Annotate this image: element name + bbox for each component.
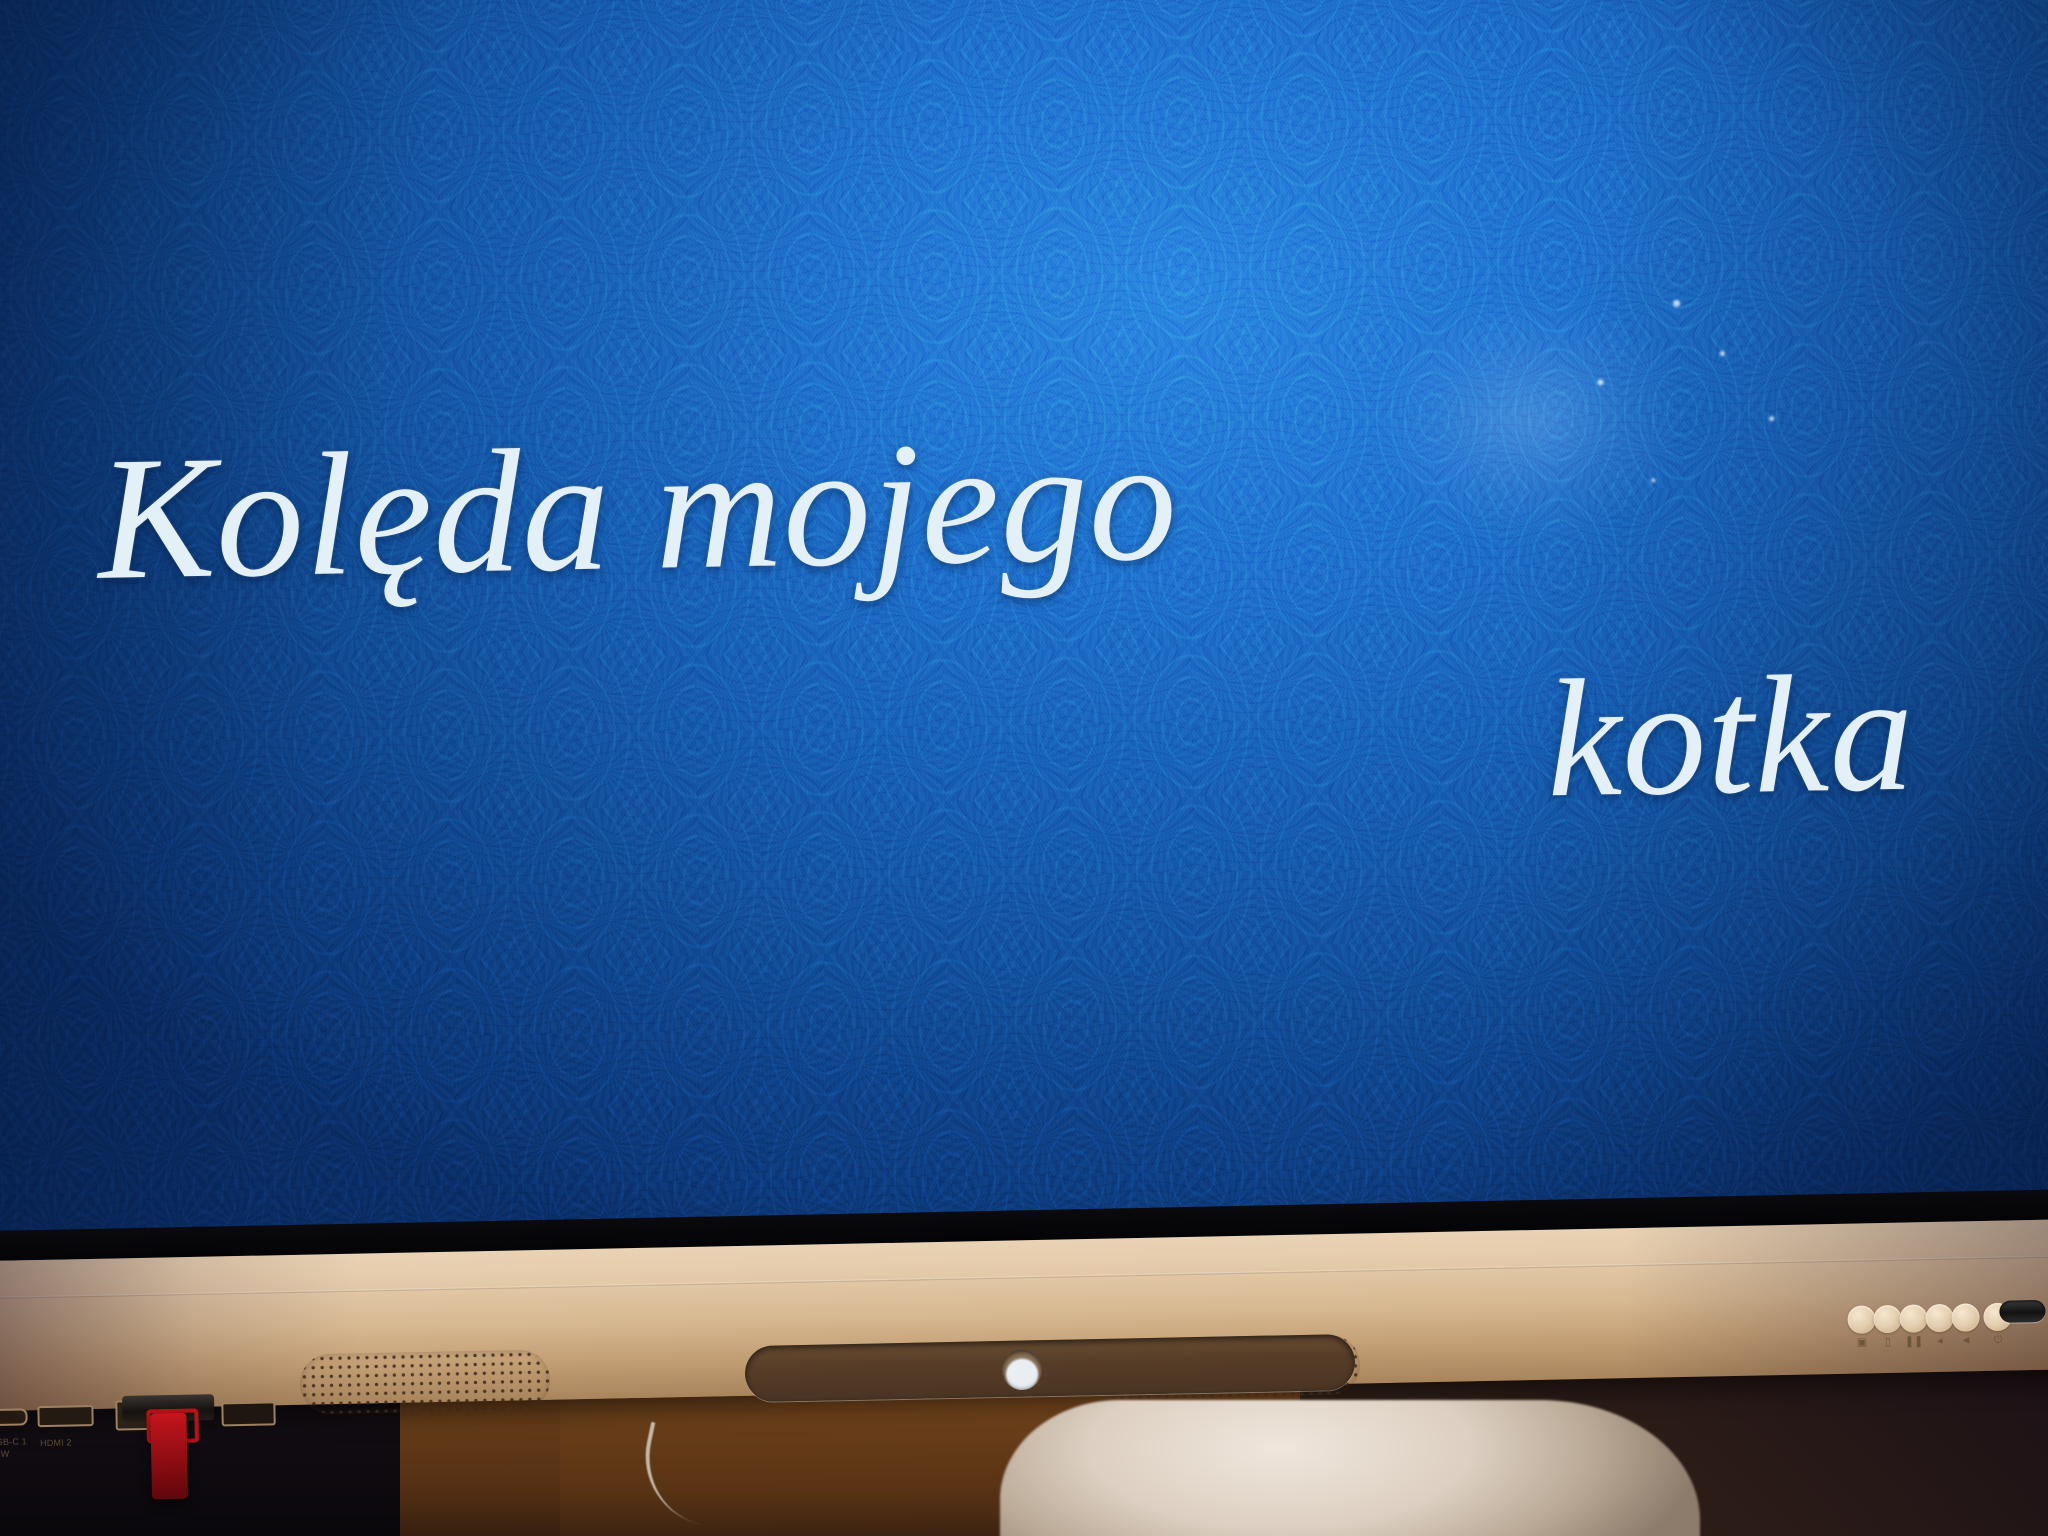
volume-up-icon: ◄ (1952, 1335, 1980, 1347)
screen-freeze-icon: ▯ (1874, 1337, 1902, 1349)
sparkle-dot (1673, 300, 1680, 307)
foreground-cloth (1000, 1400, 1700, 1536)
usb-c-power-label: 65W (0, 1449, 9, 1459)
slide-vignette (0, 0, 2048, 1280)
usb-drive-cap (150, 1413, 188, 1500)
sparkle-dot (1720, 351, 1725, 356)
pause-button[interactable] (1899, 1304, 1928, 1333)
ir-receiver-window (1999, 1300, 2045, 1323)
volume-down-button[interactable] (1925, 1304, 1954, 1333)
pause-icon: ❚❚ (1900, 1336, 1928, 1348)
hdmi-port[interactable] (37, 1405, 93, 1427)
power-icon: ⏻ (1984, 1335, 2012, 1347)
photo-scene: Kolęda mojego kotka USB-C 1 65W HDMI 2 (0, 0, 2048, 1536)
usb-c-port-label: USB-C 1 (0, 1436, 27, 1447)
input-source-icon: ▣ (1848, 1337, 1876, 1349)
hdmi-port-label: HDMI 2 (40, 1437, 72, 1448)
volume-down-icon: ◂ (1926, 1336, 1954, 1348)
display-screen[interactable]: Kolęda mojego kotka (0, 0, 2048, 1280)
usb-c-port[interactable] (0, 1408, 28, 1426)
sparkle-dot (1769, 416, 1774, 421)
display-panel: Kolęda mojego kotka (0, 0, 2048, 1310)
sparkle-dot (1651, 478, 1655, 482)
sparkle-dot (1597, 379, 1603, 385)
usb-a-port[interactable] (221, 1401, 275, 1426)
screen-freeze-button[interactable] (1873, 1305, 1902, 1334)
input-source-button[interactable] (1847, 1305, 1876, 1334)
speaker-grille-left (299, 1349, 550, 1414)
volume-up-button[interactable] (1951, 1303, 1980, 1332)
control-button-cluster: ▣ ▯ ❚❚ ◂ ◄ ⏻ (1847, 1298, 2039, 1384)
screen-glare (1311, 247, 1747, 595)
